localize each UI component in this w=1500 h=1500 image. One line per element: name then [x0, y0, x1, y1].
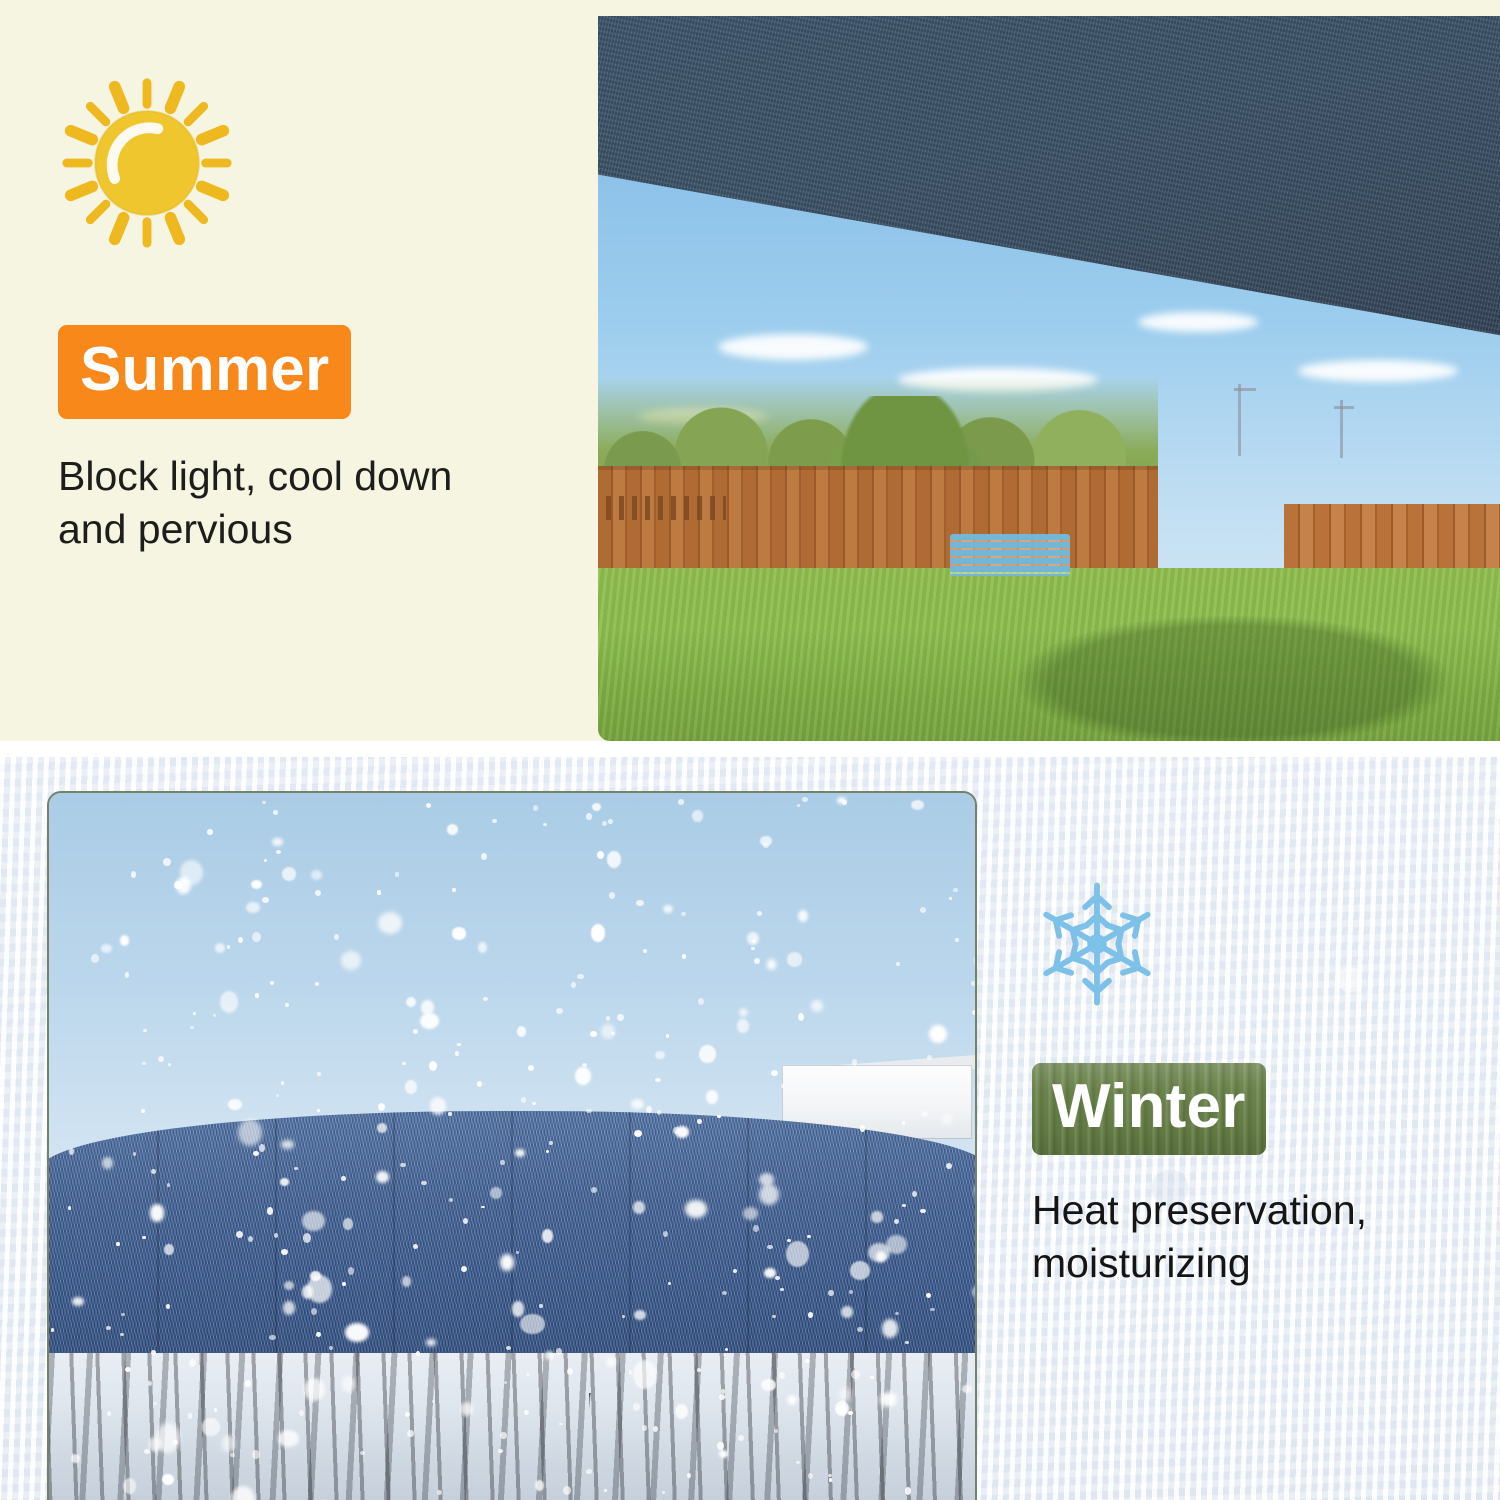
- cloud: [718, 334, 868, 360]
- winter-description: Heat preservation, moisturizing: [1032, 1184, 1432, 1291]
- winter-text-block: Winter Heat preservation, moisturizing: [1032, 879, 1462, 1332]
- summer-badge: Summer: [58, 325, 351, 419]
- winter-badge-label: Winter: [1052, 1076, 1246, 1138]
- blue-bench: [950, 534, 1070, 576]
- seasonal-feature-page: Summer Block light, cool down and pervio…: [0, 0, 1500, 1500]
- summer-panel: Summer Block light, cool down and pervio…: [0, 0, 1500, 741]
- twigs: [589, 1393, 829, 1500]
- cloud: [1138, 312, 1258, 332]
- summer-photo: [598, 16, 1500, 741]
- winter-badge-wrapper: Winter: [1032, 1063, 1462, 1160]
- sun-icon: [58, 75, 236, 251]
- summer-badge-label: Summer: [80, 339, 329, 401]
- power-line: [1334, 406, 1354, 409]
- winter-badge: Winter: [1032, 1063, 1266, 1155]
- snow-covered-ground: [49, 1353, 975, 1500]
- power-line: [1238, 384, 1241, 456]
- cloud: [1298, 360, 1458, 382]
- lawn-shadow: [1018, 616, 1448, 741]
- summer-description: Block light, cool down and pervious: [58, 450, 528, 557]
- shade-net-tunnel-ribs: [47, 1111, 977, 1383]
- fence-sign: [606, 496, 726, 520]
- snowflake-icon: [1032, 879, 1162, 1009]
- winter-photo: [47, 791, 977, 1500]
- power-line: [1234, 388, 1256, 391]
- summer-text-block: Summer Block light, cool down and pervio…: [58, 75, 538, 598]
- winter-panel: Winter Heat preservation, moisturizing: [0, 757, 1500, 1500]
